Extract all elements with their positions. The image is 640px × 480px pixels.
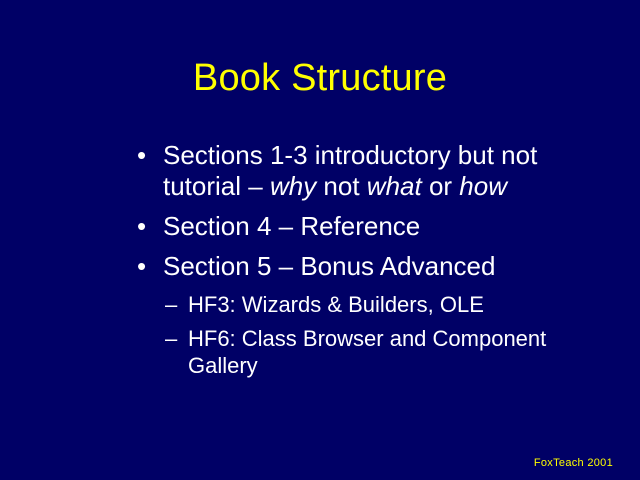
bullet-item: • Section 4 – Reference — [132, 211, 602, 242]
sub-bullet-item: – HF3: Wizards & Builders, OLE — [132, 291, 602, 318]
bullet-text: Section 5 – Bonus Advanced — [163, 251, 495, 281]
sub-bullet-text: HF6: Class Browser and Component Gallery — [188, 326, 546, 378]
bullet-marker-icon: • — [137, 211, 146, 242]
bullet-marker-icon: • — [137, 251, 146, 282]
slide-footer: FoxTeach 2001 — [534, 457, 613, 470]
sub-bullet-marker-icon: – — [165, 325, 177, 352]
presentation-slide: Book Structure • Sections 1-3 introducto… — [0, 0, 640, 480]
bullet-text-segment: or — [422, 171, 460, 201]
bullet-text-segment-italic: what — [367, 171, 422, 201]
bullet-item: • Sections 1-3 introductory but not tuto… — [132, 140, 602, 202]
page-title: Book Structure — [0, 56, 640, 100]
bullet-item: • Section 5 – Bonus Advanced — [132, 251, 602, 282]
slide-body-content: • Sections 1-3 introductory but not tuto… — [132, 140, 602, 386]
bullet-text-segment-italic: how — [459, 171, 507, 201]
bullet-text: Section 4 – Reference — [163, 211, 420, 241]
bullet-text-segment: not — [316, 171, 367, 201]
bullet-text: Sections 1-3 introductory but not tutori… — [163, 140, 537, 201]
sub-bullet-item: – HF6: Class Browser and Component Galle… — [132, 325, 602, 379]
bullet-text-segment-italic: why — [270, 171, 316, 201]
sub-bullet-marker-icon: – — [165, 291, 177, 318]
bullet-marker-icon: • — [137, 140, 146, 171]
sub-bullet-text: HF3: Wizards & Builders, OLE — [188, 292, 484, 317]
